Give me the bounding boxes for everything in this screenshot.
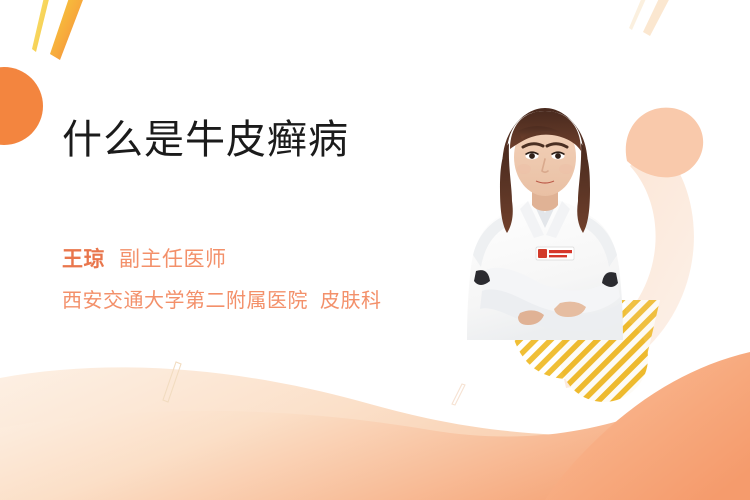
doctor-portrait	[440, 95, 650, 340]
medical-video-cover-card: 什么是牛皮癣病 王琼副主任医师 西安交通大学第二附属医院皮肤科	[0, 0, 750, 500]
portrait-id-badge	[536, 247, 574, 260]
